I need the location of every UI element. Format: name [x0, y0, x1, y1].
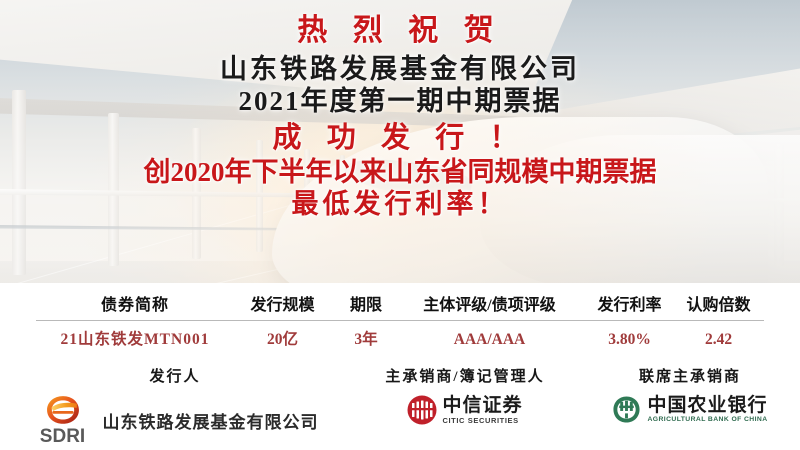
sdri-mark-icon — [46, 395, 80, 426]
headline-line-2: 山东铁路发展基金有限公司 — [0, 53, 800, 85]
issuer-row: SDRI 山东铁路发展基金有限公司 — [32, 395, 319, 446]
cell-term: 3年 — [335, 327, 397, 349]
column-header-issue-size: 发行规模 — [230, 291, 335, 315]
headline-line-4: 成 功 发 行 ！ — [0, 121, 800, 156]
lead-underwriter-label: 主承销商/簿记管理人 — [385, 365, 544, 386]
bond-issuance-announcement-poster: 热 烈 祝 贺 山东铁路发展基金有限公司 2021年度第一期中期票据 成 功 发… — [0, 0, 800, 450]
citic-text-block: 中信证券 CITIC SECURITIES — [442, 396, 522, 425]
abc-name-en: AGRICULTURAL BANK OF CHINA — [647, 417, 767, 424]
cell-issue-size: 20亿 — [230, 327, 335, 349]
column-header-bond-name: 债券简称 — [40, 291, 230, 315]
lead-underwriter-block: 主承销商/簿记管理人 中信证券 CITIC SECURITIES — [350, 365, 580, 425]
citic-securities-logo: 中信证券 CITIC SECURITIES — [407, 395, 522, 425]
column-header-subscription: 认购倍数 — [677, 291, 760, 315]
headline-block: 热 烈 祝 贺 山东铁路发展基金有限公司 2021年度第一期中期票据 成 功 发… — [0, 0, 800, 220]
info-panel: 债券简称 发行规模 期限 主体评级/债项评级 发行利率 认购倍数 21山东铁发M… — [0, 283, 800, 450]
cell-subscription-multiple: 2.42 — [677, 331, 760, 349]
abc-mark-icon — [612, 395, 641, 424]
issuer-company-name: 山东铁路发展基金有限公司 — [103, 408, 319, 433]
column-header-term: 期限 — [335, 291, 397, 315]
column-header-rating: 主体评级/债项评级 — [397, 291, 582, 315]
abc-name-cn: 中国农业银行 — [647, 396, 767, 415]
joint-underwriter-label: 联席主承销商 — [639, 365, 741, 386]
issuer-block: 发行人 — [0, 365, 350, 446]
table-header-row: 债券简称 发行规模 期限 主体评级/债项评级 发行利率 认购倍数 — [40, 291, 760, 320]
joint-underwriter-block: 联席主承销商 中国农业银行 AGRICULTURAL BANK OF CHINA — [580, 365, 800, 424]
bond-summary-table: 债券简称 发行规模 期限 主体评级/债项评级 发行利率 认购倍数 21山东铁发M… — [0, 283, 800, 349]
headline-line-6: 最低发行利率！ — [0, 188, 800, 220]
citic-mark-icon — [407, 395, 437, 425]
cell-bond-name: 21山东铁发MTN001 — [40, 327, 230, 349]
headline-line-1: 热 烈 祝 贺 — [0, 13, 800, 49]
column-header-coupon: 发行利率 — [582, 291, 677, 315]
headline-line-3: 2021年度第一期中期票据 — [0, 85, 800, 117]
sdri-logo: SDRI — [32, 395, 94, 446]
abc-text-block: 中国农业银行 AGRICULTURAL BANK OF CHINA — [647, 396, 767, 424]
table-row: 21山东铁发MTN001 20亿 3年 AAA/AAA 3.80% 2.42 — [40, 321, 760, 349]
citic-name-cn: 中信证券 — [442, 396, 522, 415]
cell-coupon-rate: 3.80% — [582, 331, 677, 349]
headline-line-5: 创2020年下半年以来山东省同规模中期票据 — [0, 156, 800, 188]
issuer-label: 发行人 — [149, 365, 200, 386]
citic-name-en: CITIC SECURITIES — [442, 417, 518, 425]
sdri-wordmark: SDRI — [40, 427, 85, 446]
agricultural-bank-of-china-logo: 中国农业银行 AGRICULTURAL BANK OF CHINA — [612, 395, 767, 424]
footer-participants: 发行人 — [0, 365, 800, 446]
cell-rating: AAA/AAA — [397, 331, 582, 349]
